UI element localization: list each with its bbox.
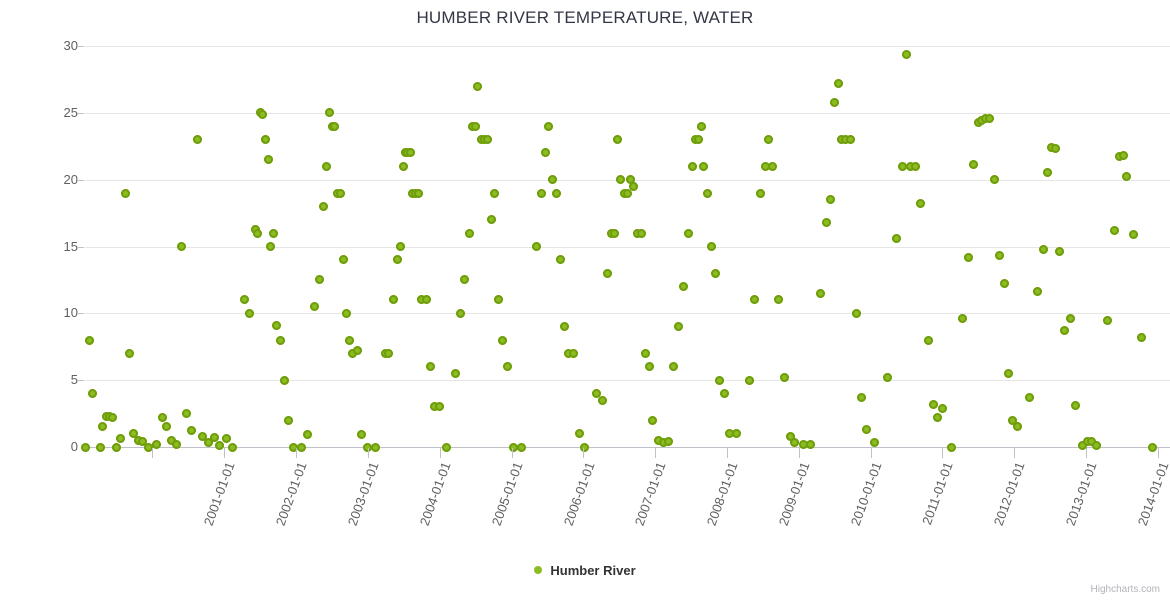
chart-legend[interactable]: Humber River xyxy=(0,562,1170,578)
legend-marker-icon xyxy=(534,566,542,574)
scatter-point[interactable] xyxy=(240,295,249,304)
scatter-point[interactable] xyxy=(745,376,754,385)
scatter-point[interactable] xyxy=(699,162,708,171)
y-axis-tick-mark xyxy=(78,313,84,314)
scatter-point[interactable] xyxy=(330,122,339,131)
scatter-point[interactable] xyxy=(264,155,273,164)
x-axis-tick-label: 2006-01-01 xyxy=(560,460,597,528)
x-axis-tick-label: 2013-01-01 xyxy=(1063,460,1100,528)
scatter-point[interactable] xyxy=(720,389,729,398)
scatter-point[interactable] xyxy=(193,135,202,144)
scatter-point[interactable] xyxy=(756,189,765,198)
scatter-point[interactable] xyxy=(1060,326,1069,335)
scatter-point[interactable] xyxy=(414,189,423,198)
scatter-point[interactable] xyxy=(393,255,402,264)
scatter-point[interactable] xyxy=(1033,287,1042,296)
scatter-point[interactable] xyxy=(471,122,480,131)
scatter-point[interactable] xyxy=(995,251,1004,260)
scatter-point[interactable] xyxy=(303,430,312,439)
x-axis-tick-label: 2009-01-01 xyxy=(776,460,813,528)
scatter-point[interactable] xyxy=(862,425,871,434)
scatter-point[interactable] xyxy=(688,162,697,171)
scatter-point[interactable] xyxy=(451,369,460,378)
scatter-point[interactable] xyxy=(266,242,275,251)
x-axis-label-group: 2001-01-012002-01-012003-01-012004-01-01… xyxy=(85,460,1170,555)
scatter-point[interactable] xyxy=(222,434,231,443)
scatter-point[interactable] xyxy=(552,189,561,198)
chart-title: HUMBER RIVER TEMPERATURE, WATER xyxy=(0,8,1170,28)
y-axis-tick-label: 15 xyxy=(8,239,78,254)
scatter-point[interactable] xyxy=(857,393,866,402)
scatter-point[interactable] xyxy=(569,349,578,358)
x-axis-tick-mark xyxy=(871,448,872,458)
scatter-point[interactable] xyxy=(465,229,474,238)
y-axis-tick-label: 0 xyxy=(8,439,78,454)
scatter-point[interactable] xyxy=(1119,151,1128,160)
scatter-point[interactable] xyxy=(1000,279,1009,288)
scatter-point[interactable] xyxy=(532,242,541,251)
scatter-point[interactable] xyxy=(384,349,393,358)
scatter-point[interactable] xyxy=(641,349,650,358)
x-axis-tick-mark xyxy=(1014,448,1015,458)
scatter-point[interactable] xyxy=(990,175,999,184)
scatter-point[interactable] xyxy=(964,253,973,262)
y-axis-tick-label: 10 xyxy=(8,305,78,320)
scatter-point[interactable] xyxy=(664,437,673,446)
scatter-point[interactable] xyxy=(494,295,503,304)
scatter-point[interactable] xyxy=(697,122,706,131)
y-axis-tick-label: 5 xyxy=(8,372,78,387)
scatter-point[interactable] xyxy=(1071,401,1080,410)
x-axis-tick-label: 2002-01-01 xyxy=(273,460,310,528)
scatter-point[interactable] xyxy=(310,302,319,311)
scatter-point[interactable] xyxy=(715,376,724,385)
y-axis-tick-label: 25 xyxy=(8,105,78,120)
scatter-point[interactable] xyxy=(422,295,431,304)
scatter-point[interactable] xyxy=(985,114,994,123)
scatter-point[interactable] xyxy=(916,199,925,208)
legend-item-humber-river[interactable]: Humber River xyxy=(550,563,635,578)
x-axis-tick-mark xyxy=(512,448,513,458)
scatter-point[interactable] xyxy=(648,416,657,425)
scatter-point[interactable] xyxy=(548,175,557,184)
scatter-point[interactable] xyxy=(822,218,831,227)
x-axis-tick-label: 2010-01-01 xyxy=(848,460,885,528)
scatter-point[interactable] xyxy=(503,362,512,371)
scatter-point[interactable] xyxy=(490,189,499,198)
scatter-point[interactable] xyxy=(353,346,362,355)
scatter-point[interactable] xyxy=(125,349,134,358)
scatter-point[interactable] xyxy=(537,189,546,198)
scatter-point[interactable] xyxy=(158,413,167,422)
scatter-point[interactable] xyxy=(637,229,646,238)
scatter-point[interactable] xyxy=(389,295,398,304)
scatter-point[interactable] xyxy=(272,321,281,330)
scatter-point[interactable] xyxy=(768,162,777,171)
scatter-point[interactable] xyxy=(435,402,444,411)
scatter-point[interactable] xyxy=(245,309,254,318)
y-axis-tick-label: 30 xyxy=(8,38,78,53)
scatter-point[interactable] xyxy=(669,362,678,371)
scatter-point[interactable] xyxy=(544,122,553,131)
gridline xyxy=(85,113,1170,114)
y-axis-tick-mark xyxy=(78,46,84,47)
scatter-point[interactable] xyxy=(902,50,911,59)
scatter-point[interactable] xyxy=(911,162,920,171)
scatter-point[interactable] xyxy=(460,275,469,284)
y-axis-tick-label: 20 xyxy=(8,172,78,187)
scatter-point[interactable] xyxy=(319,202,328,211)
scatter-point[interactable] xyxy=(732,429,741,438)
scatter-point[interactable] xyxy=(556,255,565,264)
x-axis-tick-label: 2004-01-01 xyxy=(417,460,454,528)
scatter-point[interactable] xyxy=(498,336,507,345)
scatter-point[interactable] xyxy=(1137,333,1146,342)
scatter-point[interactable] xyxy=(892,234,901,243)
y-axis-tick-group: 051015202530 xyxy=(0,46,78,447)
x-axis-tick-mark xyxy=(440,448,441,458)
scatter-point[interactable] xyxy=(969,160,978,169)
scatter-point[interactable] xyxy=(674,322,683,331)
scatter-point[interactable] xyxy=(98,422,107,431)
scatter-point[interactable] xyxy=(958,314,967,323)
x-axis-tick-mark xyxy=(942,448,943,458)
scatter-point[interactable] xyxy=(269,229,278,238)
x-axis-tick-mark xyxy=(727,448,728,458)
scatter-point[interactable] xyxy=(483,135,492,144)
scatter-point[interactable] xyxy=(342,309,351,318)
plot-area xyxy=(85,46,1170,447)
scatter-point[interactable] xyxy=(280,376,289,385)
scatter-point[interactable] xyxy=(487,215,496,224)
scatter-point[interactable] xyxy=(541,148,550,157)
scatter-point[interactable] xyxy=(187,426,196,435)
gridline xyxy=(85,46,1170,47)
x-axis-tick-label: 2011-01-01 xyxy=(919,460,956,527)
scatter-point[interactable] xyxy=(830,98,839,107)
scatter-point[interactable] xyxy=(325,108,334,117)
y-axis-tick-mark xyxy=(78,380,84,381)
scatter-point[interactable] xyxy=(603,269,612,278)
scatter-point[interactable] xyxy=(711,269,720,278)
x-axis-tick-mark xyxy=(152,448,153,458)
scatter-point[interactable] xyxy=(284,416,293,425)
x-axis-tick-label: 2003-01-01 xyxy=(345,460,382,528)
y-axis-tick-mark xyxy=(78,247,84,248)
scatter-point[interactable] xyxy=(315,275,324,284)
scatter-point[interactable] xyxy=(406,148,415,157)
y-axis-tick-mark xyxy=(78,180,84,181)
scatter-point[interactable] xyxy=(826,195,835,204)
scatter-point[interactable] xyxy=(707,242,716,251)
scatter-point[interactable] xyxy=(764,135,773,144)
x-axis-tick-label: 2005-01-01 xyxy=(488,460,525,528)
x-axis-tick-mark xyxy=(1158,448,1159,458)
scatter-point[interactable] xyxy=(1004,369,1013,378)
scatter-point[interactable] xyxy=(396,242,405,251)
scatter-point[interactable] xyxy=(846,135,855,144)
scatter-point[interactable] xyxy=(1039,245,1048,254)
scatter-point[interactable] xyxy=(182,409,191,418)
scatter-point[interactable] xyxy=(852,309,861,318)
x-axis-tick-label: 2007-01-01 xyxy=(632,460,669,528)
scatter-point[interactable] xyxy=(1013,422,1022,431)
x-axis-tick-label: 2014-01-01 xyxy=(1135,460,1170,528)
scatter-point[interactable] xyxy=(1103,316,1112,325)
x-axis-tick-mark xyxy=(1086,448,1087,458)
highcharts-scatter-chart: HUMBER RIVER TEMPERATURE, WATER Measurem… xyxy=(0,0,1170,600)
scatter-point[interactable] xyxy=(560,322,569,331)
scatter-point[interactable] xyxy=(108,413,117,422)
scatter-point[interactable] xyxy=(929,400,938,409)
scatter-point[interactable] xyxy=(121,189,130,198)
x-axis-tick-mark xyxy=(224,448,225,458)
scatter-point[interactable] xyxy=(816,289,825,298)
scatter-point[interactable] xyxy=(88,389,97,398)
scatter-point[interactable] xyxy=(694,135,703,144)
scatter-point[interactable] xyxy=(575,429,584,438)
scatter-point[interactable] xyxy=(1025,393,1034,402)
scatter-point[interactable] xyxy=(357,430,366,439)
credits-label[interactable]: Highcharts.com xyxy=(1091,584,1160,595)
scatter-point[interactable] xyxy=(774,295,783,304)
x-axis-tick-mark xyxy=(296,448,297,458)
scatter-point[interactable] xyxy=(336,189,345,198)
scatter-point[interactable] xyxy=(616,175,625,184)
scatter-point[interactable] xyxy=(684,229,693,238)
scatter-point[interactable] xyxy=(610,229,619,238)
scatter-point[interactable] xyxy=(679,282,688,291)
x-axis-tick-mark xyxy=(655,448,656,458)
scatter-point[interactable] xyxy=(780,373,789,382)
scatter-point[interactable] xyxy=(456,309,465,318)
scatter-point[interactable] xyxy=(473,82,482,91)
scatter-point[interactable] xyxy=(750,295,759,304)
scatter-point[interactable] xyxy=(933,413,942,422)
gridline xyxy=(85,247,1170,248)
scatter-point[interactable] xyxy=(276,336,285,345)
scatter-point[interactable] xyxy=(339,255,348,264)
x-axis-tick-mark xyxy=(583,448,584,458)
x-axis-tick-label: 2012-01-01 xyxy=(991,460,1028,528)
scatter-point[interactable] xyxy=(598,396,607,405)
scatter-point[interactable] xyxy=(116,434,125,443)
scatter-point[interactable] xyxy=(1051,144,1060,153)
scatter-point[interactable] xyxy=(345,336,354,345)
scatter-point[interactable] xyxy=(924,336,933,345)
scatter-point[interactable] xyxy=(253,229,262,238)
x-axis-tick-label: 2001-01-01 xyxy=(201,460,238,528)
scatter-point[interactable] xyxy=(629,182,638,191)
scatter-point[interactable] xyxy=(1129,230,1138,239)
scatter-point[interactable] xyxy=(399,162,408,171)
scatter-point[interactable] xyxy=(177,242,186,251)
x-axis-tick-group xyxy=(85,448,1170,460)
x-axis-tick-mark xyxy=(368,448,369,458)
scatter-point[interactable] xyxy=(1066,314,1075,323)
scatter-point[interactable] xyxy=(938,404,947,413)
scatter-point[interactable] xyxy=(645,362,654,371)
scatter-point[interactable] xyxy=(1043,168,1052,177)
scatter-point[interactable] xyxy=(258,110,267,119)
scatter-point[interactable] xyxy=(261,135,270,144)
scatter-point[interactable] xyxy=(1110,226,1119,235)
scatter-point[interactable] xyxy=(703,189,712,198)
gridline xyxy=(85,380,1170,381)
scatter-point[interactable] xyxy=(834,79,843,88)
scatter-point[interactable] xyxy=(613,135,622,144)
x-axis-tick-label: 2008-01-01 xyxy=(704,460,741,528)
scatter-point[interactable] xyxy=(426,362,435,371)
scatter-point[interactable] xyxy=(1055,247,1064,256)
scatter-point[interactable] xyxy=(322,162,331,171)
scatter-point[interactable] xyxy=(85,336,94,345)
x-axis-tick-mark xyxy=(799,448,800,458)
scatter-point[interactable] xyxy=(162,422,171,431)
y-axis-tick-mark xyxy=(78,113,84,114)
